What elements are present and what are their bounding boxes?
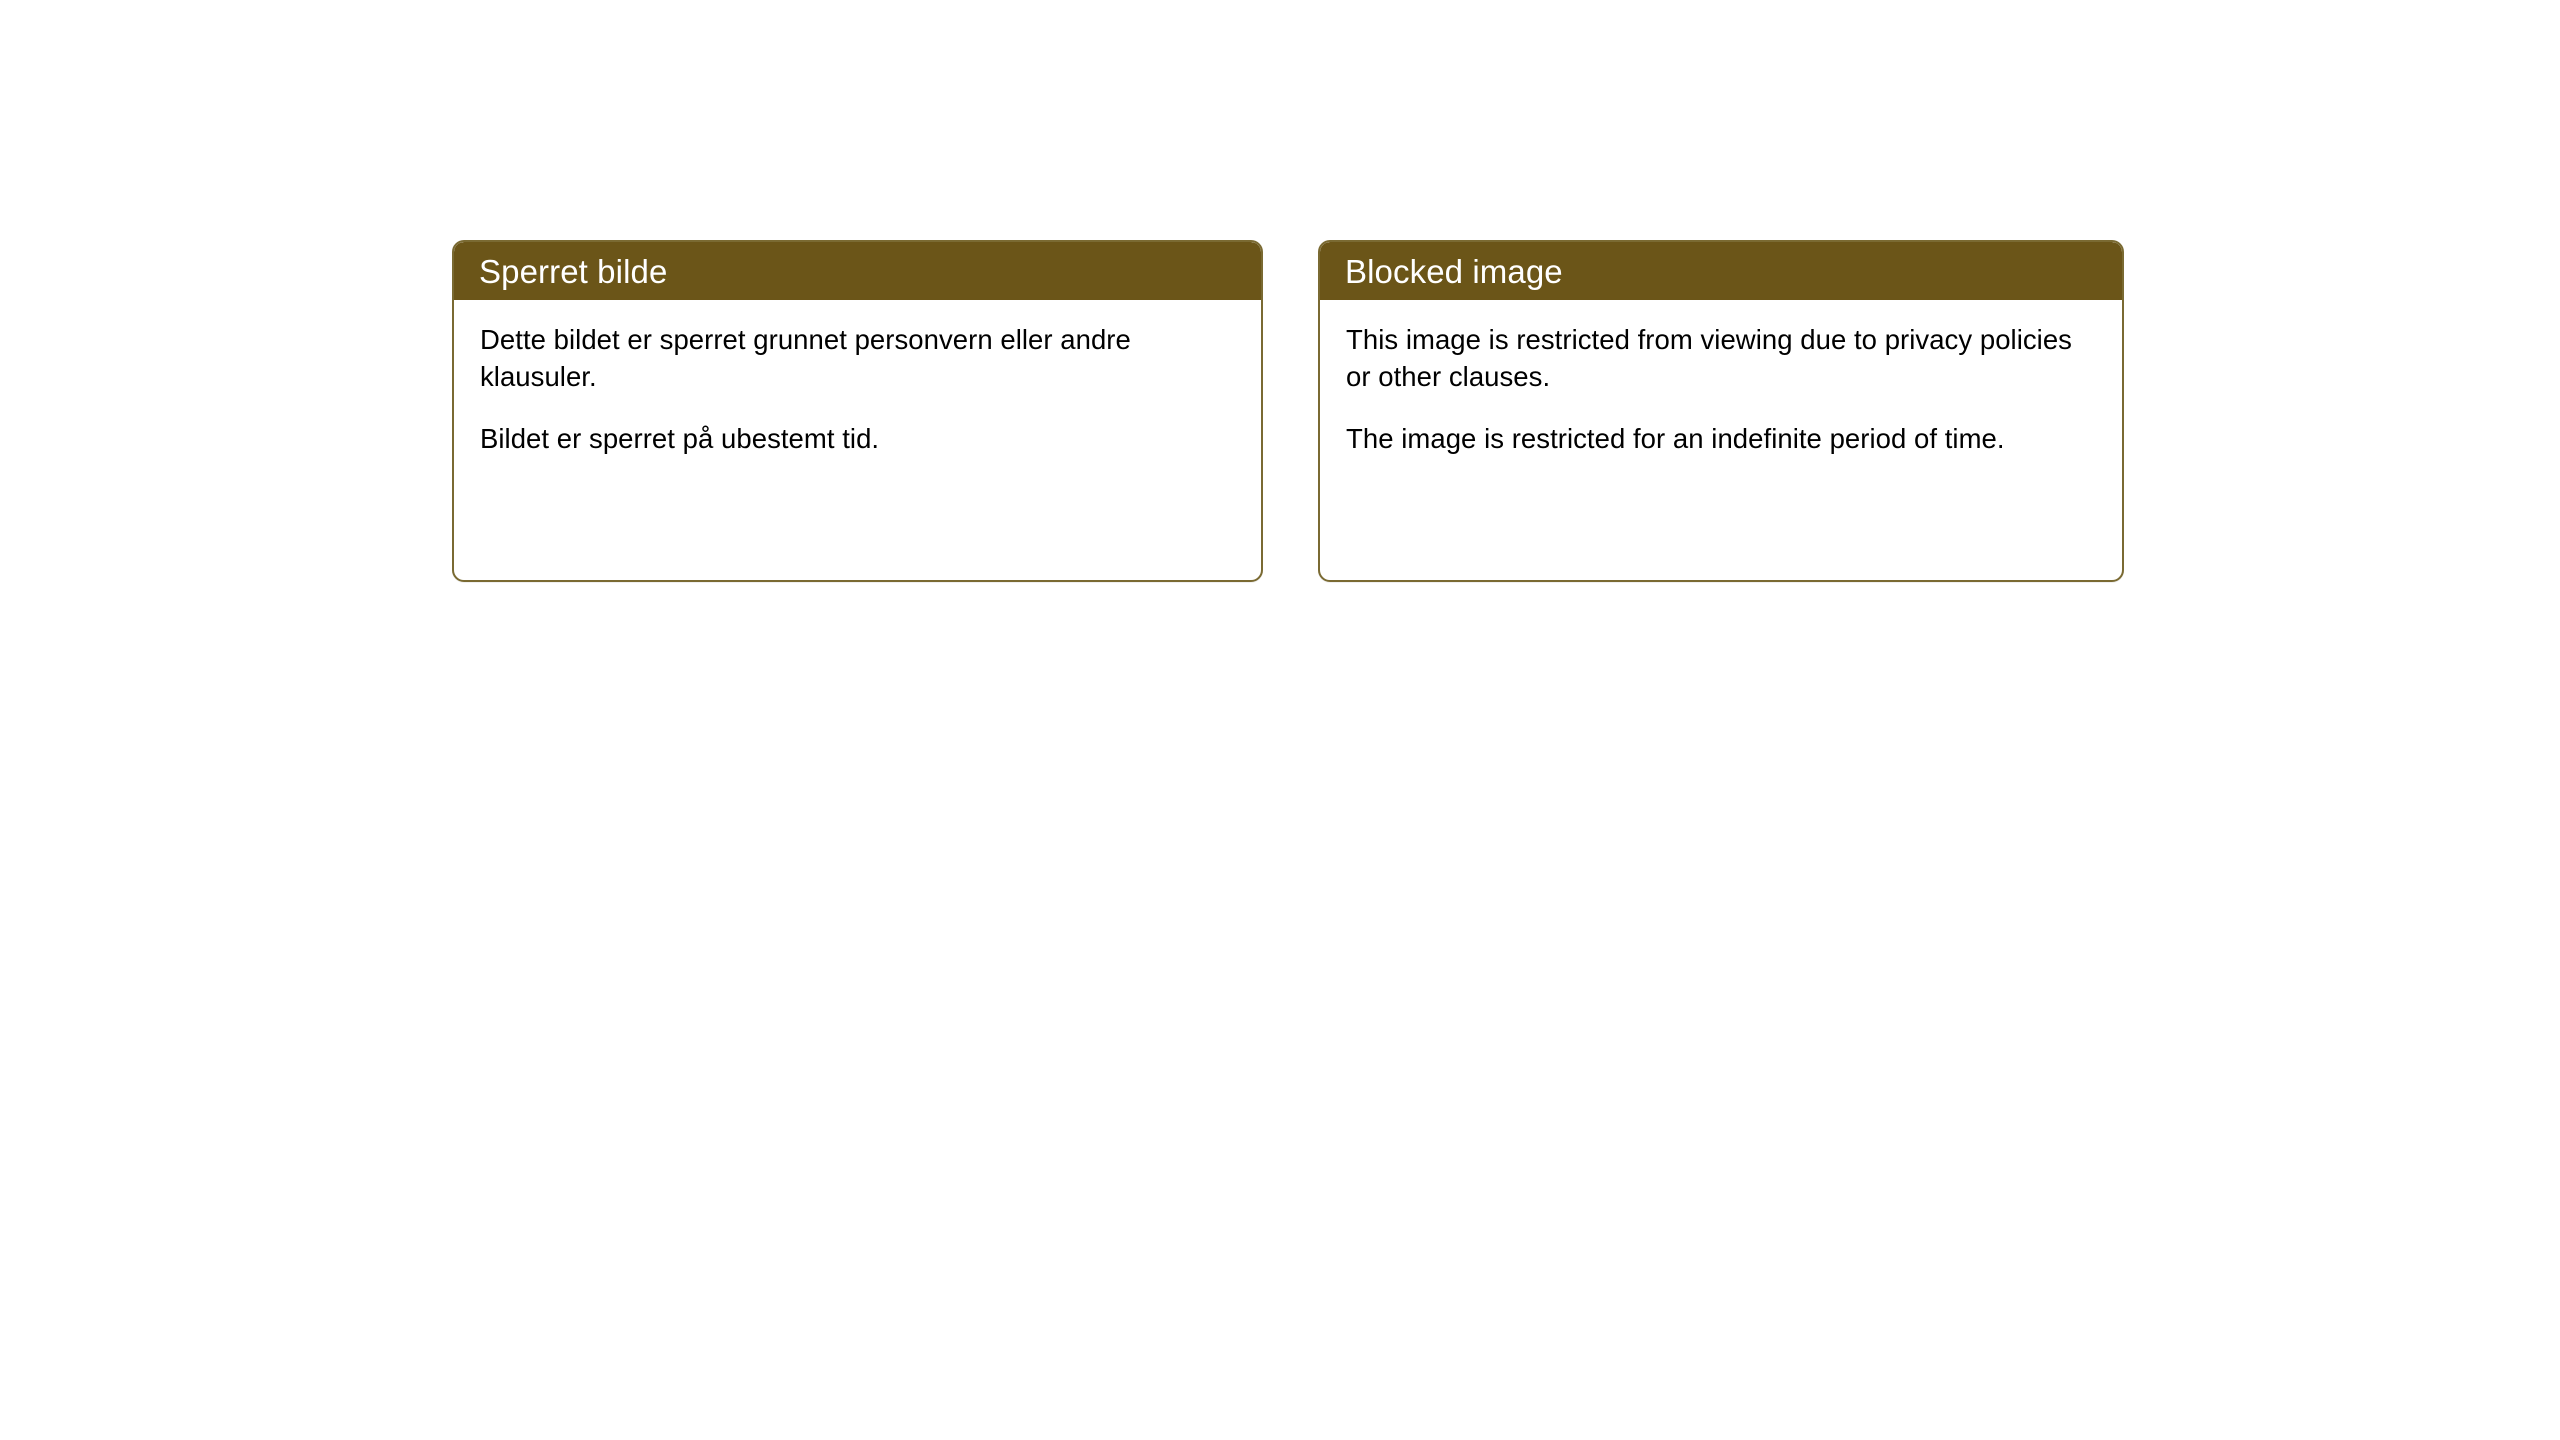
card-paragraph-primary-english: This image is restricted from viewing du… <box>1346 322 2096 395</box>
card-paragraph-primary-norwegian: Dette bildet er sperret grunnet personve… <box>480 322 1235 395</box>
card-body-norwegian: Dette bildet er sperret grunnet personve… <box>454 300 1261 458</box>
card-paragraph-secondary-english: The image is restricted for an indefinit… <box>1346 421 2096 458</box>
card-body-english: This image is restricted from viewing du… <box>1320 300 2122 458</box>
card-title-norwegian: Sperret bilde <box>479 255 667 288</box>
paragraph-spacer <box>480 395 1235 421</box>
blocked-image-notice-english: Blocked image This image is restricted f… <box>1318 240 2124 582</box>
page-canvas: Sperret bilde Dette bildet er sperret gr… <box>0 0 2560 1440</box>
card-header-english: Blocked image <box>1320 242 2122 300</box>
paragraph-spacer <box>1346 395 2096 421</box>
card-title-english: Blocked image <box>1345 255 1563 288</box>
card-paragraph-secondary-norwegian: Bildet er sperret på ubestemt tid. <box>480 421 1235 458</box>
card-header-norwegian: Sperret bilde <box>454 242 1261 300</box>
blocked-image-notice-norwegian: Sperret bilde Dette bildet er sperret gr… <box>452 240 1263 582</box>
